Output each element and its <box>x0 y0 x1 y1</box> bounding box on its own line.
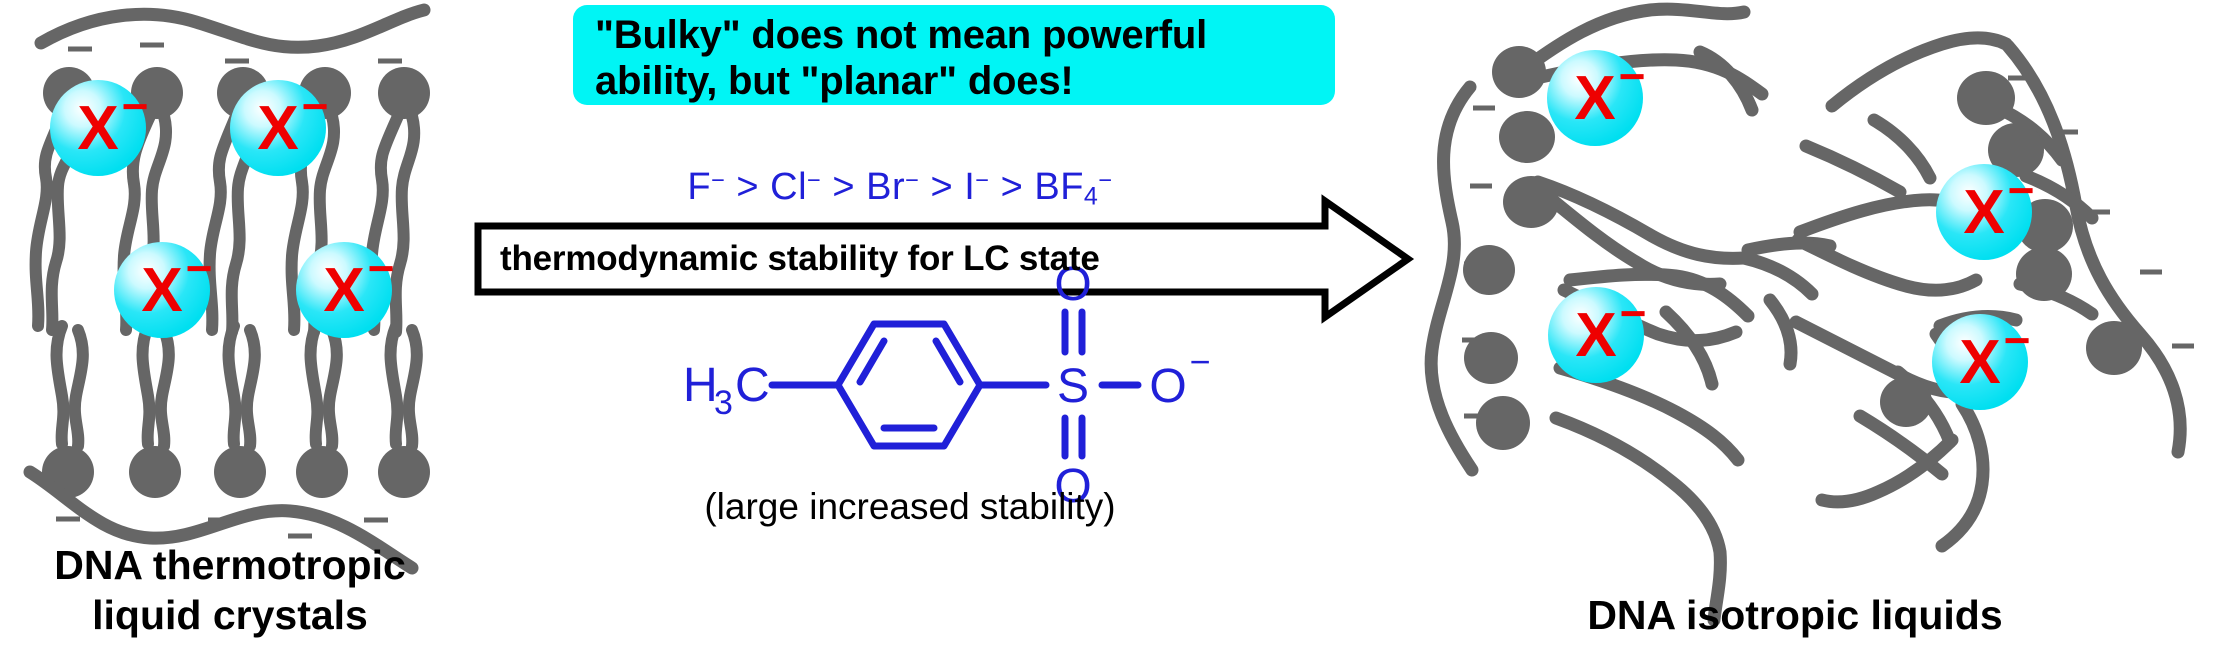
banner-line-2: ability, but "planar" does! <box>595 58 1315 104</box>
anion-letter: X <box>1575 301 1616 370</box>
head-4 <box>1463 245 1515 295</box>
anion-letter: X <box>1959 328 2000 397</box>
series-separator: > <box>1001 166 1035 208</box>
anion-stability-series: F− > Cl− > Br− > I− > BF4− <box>640 166 1160 212</box>
series-item-bf4: BF4− <box>1034 166 1112 208</box>
anion-letter: X <box>1574 64 1615 133</box>
banner-line-1: "Bulky" does not mean powerful <box>595 12 1315 58</box>
anion-charge: − <box>2004 314 2031 366</box>
anion-charge: − <box>2008 164 2035 216</box>
head-1 <box>1492 46 1546 98</box>
head-3 <box>1503 176 1559 228</box>
head-12 <box>1880 377 1932 427</box>
right-anion-2: X − <box>1548 287 1646 383</box>
left-panel-label-line-1: DNA thermotropic <box>0 540 460 590</box>
series-item-i: I− <box>964 166 989 208</box>
right-panel-label: DNA isotropic liquids <box>1400 592 2190 639</box>
series-item-cl: Cl− <box>770 166 821 208</box>
series-separator: > <box>736 166 770 208</box>
right-anion-4: X − <box>1932 314 2030 410</box>
left-panel-label: DNA thermotropic liquid crystals <box>0 540 460 640</box>
head-6 <box>1476 396 1530 450</box>
series-item-f: F− <box>687 166 725 208</box>
left-panel-label-line-2: liquid crystals <box>0 590 460 640</box>
anion-letter: X <box>1963 178 2004 247</box>
series-separator: > <box>930 166 964 208</box>
key-message-banner: "Bulky" does not mean powerful ability, … <box>573 5 1335 105</box>
anion-charge: − <box>1620 287 1647 339</box>
figure-canvas: X − X − X − X − <box>0 0 2213 655</box>
right-anion-1: X − <box>1547 50 1645 146</box>
series-item-br: Br− <box>866 166 919 208</box>
head-10 <box>2016 247 2072 301</box>
right-anion-3: X − <box>1936 164 2034 260</box>
structure-caption: (large increased stability) <box>600 486 1220 528</box>
head-7 <box>1957 71 2015 125</box>
head-11 <box>2086 321 2142 375</box>
arrow-caption: thermodynamic stability for LC state <box>500 231 1200 287</box>
anion-charge: − <box>1619 50 1646 102</box>
series-separator: > <box>832 166 866 208</box>
head-2 <box>1499 111 1555 163</box>
